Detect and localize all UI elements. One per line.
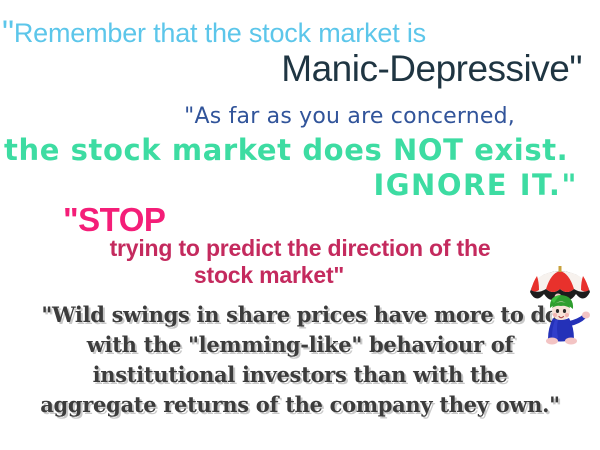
- quote-ignore-line2: the stock market does NOT exist.: [4, 133, 568, 167]
- quote-wild-swings-line3: institutional investors than with the: [0, 360, 600, 390]
- quote-ignore-line3: IGNORE IT.": [0, 168, 578, 202]
- quote-manic-line1: "Remember that the stock market is: [2, 18, 426, 49]
- quote-wild-swings-line1: "Wild swings in share prices have more t…: [0, 300, 600, 330]
- open-quote-mark: ": [2, 14, 14, 52]
- quote-stop-line2: trying to predict the direction of the: [0, 235, 600, 262]
- quote-poster: "Remember that the stock market is Manic…: [0, 0, 600, 450]
- quote-stop-line3: stock market": [0, 262, 538, 289]
- quote-stop-word: "STOP: [63, 201, 165, 239]
- quote-wild-swings-line4: aggregate returns of the company they ow…: [0, 390, 600, 420]
- quote-manic-line2: Manic-Depressive": [0, 48, 582, 90]
- quote-wild-swings-line2: with the "lemming-like" behaviour of: [0, 330, 600, 360]
- quote-ignore-line1: "As far as you are concerned,: [0, 104, 515, 129]
- quote-wild-swings: "Wild swings in share prices have more t…: [0, 300, 600, 420]
- child-with-umbrella-icon: [524, 264, 596, 350]
- quote-manic-line1-text: Remember that the stock market is: [14, 18, 426, 48]
